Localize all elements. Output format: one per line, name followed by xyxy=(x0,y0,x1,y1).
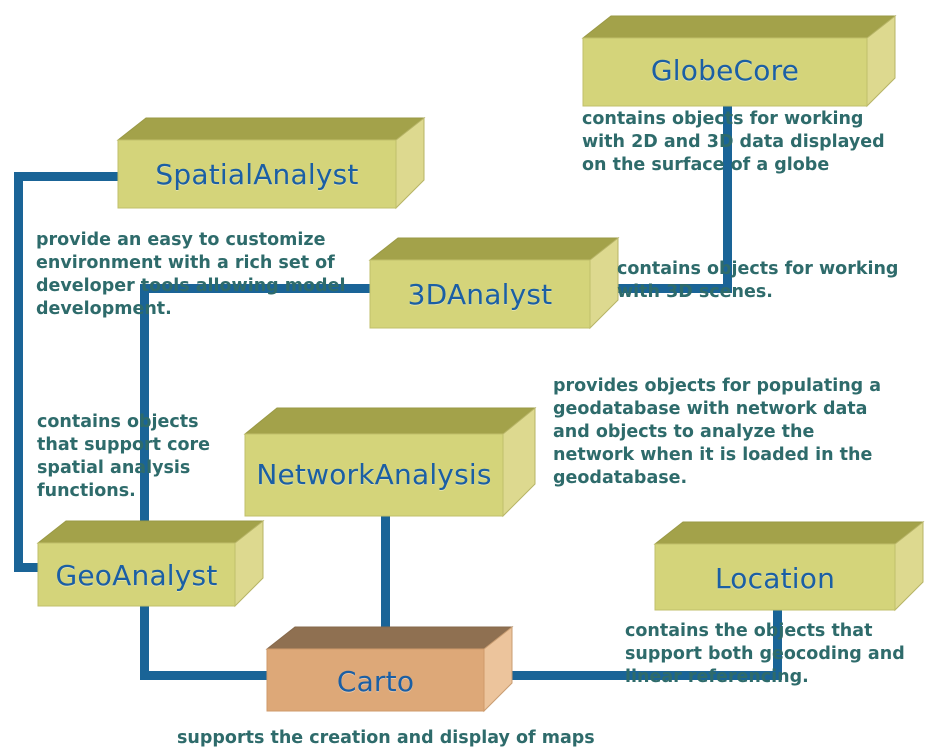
note-networkanalysis: provides objects for populating a geodat… xyxy=(553,375,893,490)
connector-spatialanalyst-vertical xyxy=(14,172,23,572)
package-box-shape xyxy=(370,238,618,328)
package-carto[interactable]: Carto xyxy=(267,627,512,711)
connector-spatialanalyst-horizontal xyxy=(14,172,124,181)
package-box-shape xyxy=(267,627,512,711)
connector-geoanalyst-down-vertical xyxy=(140,605,149,679)
package-3danalyst[interactable]: 3DAnalyst xyxy=(370,238,618,328)
package-diagram-canvas: GlobeCore contains objects for working w… xyxy=(0,0,927,755)
package-box-shape xyxy=(38,521,263,606)
note-spatialanalyst: provide an easy to customize environment… xyxy=(36,229,366,321)
connector-geoanalyst-carto-horizontal xyxy=(140,671,275,680)
package-globecore[interactable]: GlobeCore xyxy=(583,16,895,106)
package-box-shape xyxy=(118,118,424,208)
connector-networkanalysis-carto-vertical xyxy=(381,515,390,640)
note-location: contains the objects that support both g… xyxy=(625,620,925,689)
package-box-shape xyxy=(583,16,895,106)
package-box-shape xyxy=(245,408,535,516)
package-spatialanalyst[interactable]: SpatialAnalyst xyxy=(118,118,424,208)
note-geoanalyst: contains objects that support core spati… xyxy=(37,411,247,503)
package-geoanalyst[interactable]: GeoAnalyst xyxy=(38,521,263,606)
note-globecore: contains objects for working with 2D and… xyxy=(582,108,902,177)
package-location[interactable]: Location xyxy=(655,522,923,610)
note-carto: supports the creation and display of map… xyxy=(177,727,677,750)
note-3danalyst: contains objects for working with 3D sce… xyxy=(617,258,917,304)
package-networkanalysis[interactable]: NetworkAnalysis xyxy=(245,408,535,516)
package-box-shape xyxy=(655,522,923,610)
